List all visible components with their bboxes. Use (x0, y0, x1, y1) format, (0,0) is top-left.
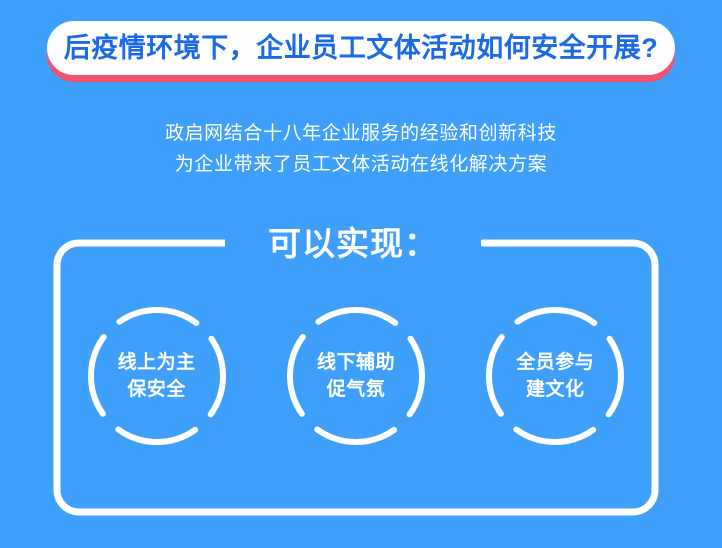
feature-circle-1-line-1: 线上为主 (118, 349, 196, 376)
feature-circles: 线上为主 保安全 线下辅助 促气氛 全员参与 建文化 (57, 300, 655, 452)
section-heading: 可以实现： (225, 220, 481, 266)
feature-circle-1-label: 线上为主 保安全 (118, 349, 196, 403)
feature-circle-3-line-2: 建文化 (516, 376, 594, 403)
poster-canvas: 后疫情环境下，企业员工文体活动如何安全开展? 政启网结合十八年企业服务的经验和创… (0, 0, 722, 548)
feature-circle-1-line-2: 保安全 (118, 376, 196, 403)
subtitle-block: 政启网结合十八年企业服务的经验和创新科技 为企业带来了员工文体活动在线化解决方案 (0, 118, 722, 180)
feature-circle-2-line-1: 线下辅助 (317, 349, 395, 376)
feature-circle-1: 线上为主 保安全 (86, 305, 228, 447)
feature-circle-2: 线下辅助 促气氛 (285, 305, 427, 447)
feature-circle-3-label: 全员参与 建文化 (516, 349, 594, 403)
feature-circle-3-line-1: 全员参与 (516, 349, 594, 376)
title-pill: 后疫情环境下，企业员工文体活动如何安全开展? (47, 21, 675, 75)
feature-circle-3: 全员参与 建文化 (484, 305, 626, 447)
page-title: 后疫情环境下，企业员工文体活动如何安全开展? (64, 35, 659, 62)
subtitle-line-2: 为企业带来了员工文体活动在线化解决方案 (0, 149, 722, 180)
feature-circle-2-line-2: 促气氛 (317, 376, 395, 403)
title-banner: 后疫情环境下，企业员工文体活动如何安全开展? (47, 21, 675, 77)
section-heading-label: 可以实现： (268, 227, 438, 260)
feature-circle-2-label: 线下辅助 促气氛 (317, 349, 395, 403)
subtitle-line-1: 政启网结合十八年企业服务的经验和创新科技 (0, 118, 722, 149)
